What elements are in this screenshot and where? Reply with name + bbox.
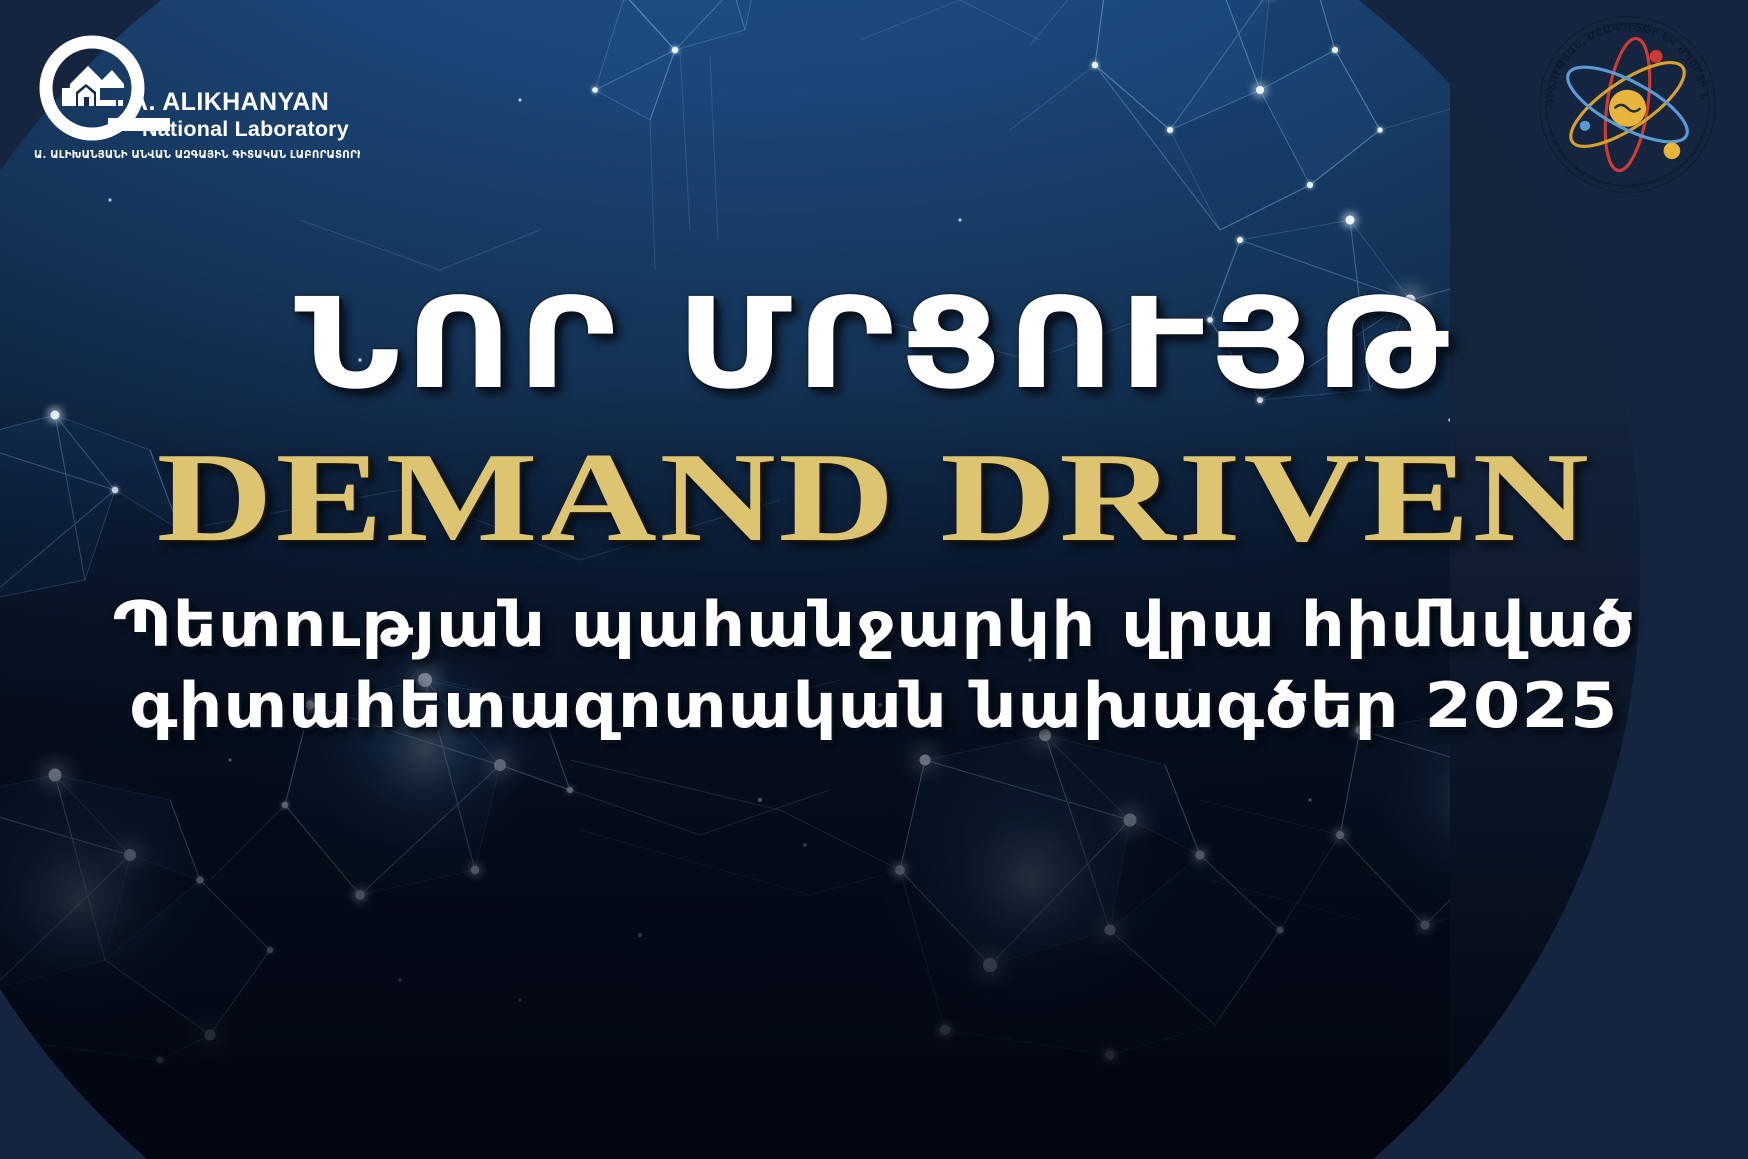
atom-electron-yellow — [1664, 142, 1681, 159]
title-block: ՆՈՐ ՄՐՑՈՒՅԹ DEMAND DRIVEN Պետության պահա… — [0, 282, 1748, 746]
atom-nucleus — [1609, 90, 1646, 127]
aanl-name-hy: Ա. ԱԼԻԽԱՆՅԱՆԻ ԱՆՎԱՆ ԱԶԳԱՅԻՆ ԳԻՏԱԿԱՆ ԼԱԲՈ… — [34, 150, 360, 161]
aanl-name-en-2: National Laboratory — [142, 117, 349, 141]
subtitle-line-2: գիտահետազոտական նախագծեր 2025 — [0, 666, 1748, 747]
poster-canvas: A. ALIKHANYAN National Laboratory Ա. ԱԼԻ… — [0, 0, 1748, 1159]
subtitle-block: Պետության պահանջարկի վրա հիմնված գիտահետ… — [0, 585, 1748, 746]
ministry-atom-logo: ՀՀ ԿՐԹՈՒԹՅԱՆ, ԳԻՏՈՒԹՅԱՆ, ՄՇԱԿՈՒՅԹԻ ԵՎ ՍՊ… — [1535, 12, 1720, 197]
atom-electron-blue — [1580, 121, 1590, 131]
headline-english: DEMAND DRIVEN — [0, 433, 1748, 561]
aanl-logo: A. ALIKHANYAN National Laboratory Ա. ԱԼԻ… — [30, 26, 360, 171]
atom-electron-red — [1650, 50, 1663, 63]
aanl-name-en-1: A. ALIKHANYAN — [130, 88, 329, 116]
subtitle-line-1: Պետության պահանջարկի վրա հիմնված — [0, 585, 1748, 666]
headline-armenian: ՆՈՐ ՄՐՑՈՒՅԹ — [0, 282, 1748, 407]
